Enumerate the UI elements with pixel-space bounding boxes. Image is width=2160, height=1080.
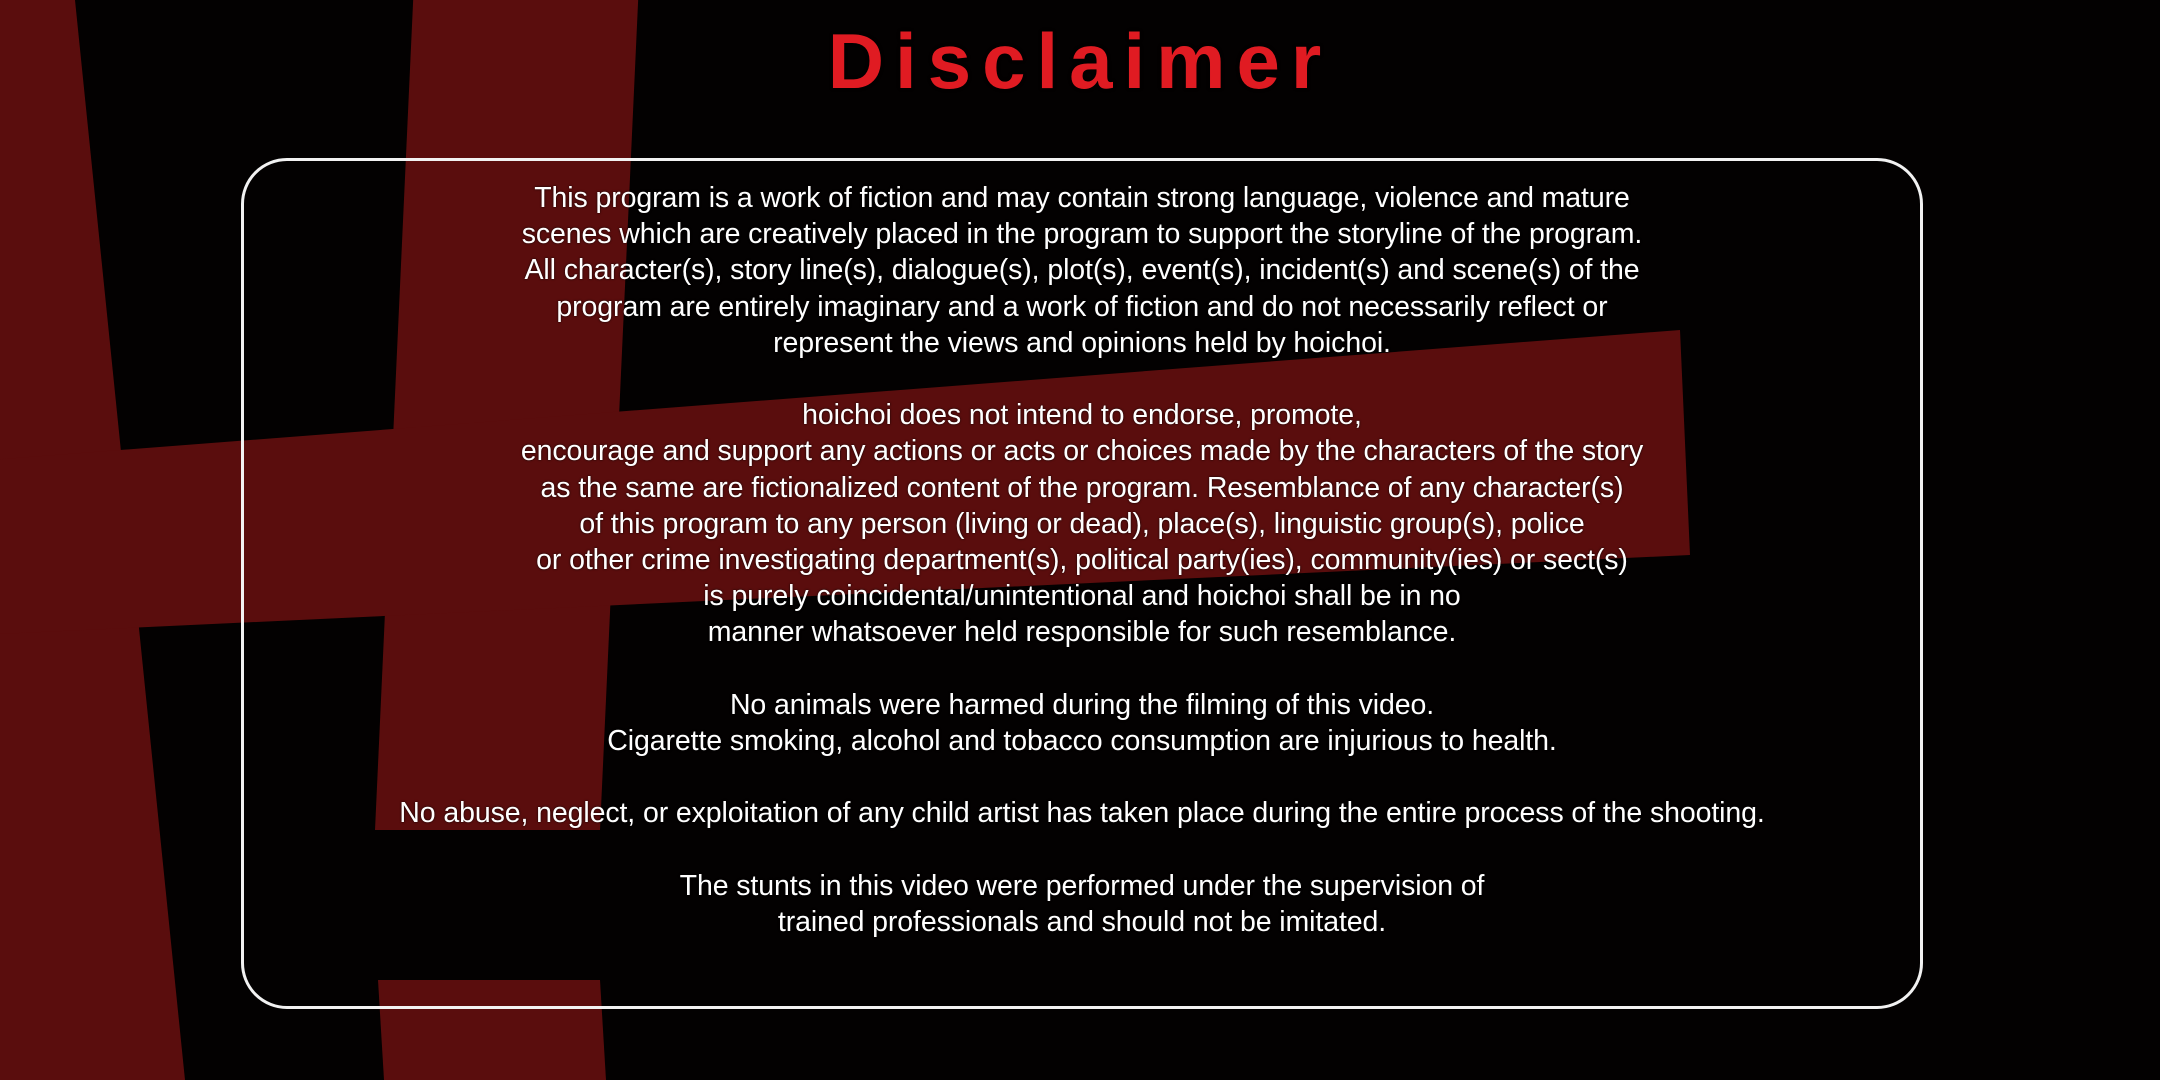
disclaimer-paragraph-child-artist-notice: No abuse, neglect, or exploitation of an… (241, 795, 1923, 831)
disclaimer-line: program are entirely imaginary and a wor… (241, 289, 1923, 325)
disclaimer-line: trained professionals and should not be … (241, 904, 1923, 940)
paragraph-spacer (241, 651, 1923, 687)
disclaimer-line: represent the views and opinions held by… (241, 325, 1923, 361)
paragraph-spacer (241, 759, 1923, 795)
page-title: Disclaimer (0, 22, 2160, 100)
disclaimer-paragraph-stunts-notice: The stunts in this video were performed … (241, 868, 1923, 940)
disclaimer-paragraph-no-endorsement-notice: hoichoi does not intend to endorse, prom… (241, 397, 1923, 650)
disclaimer-line: of this program to any person (living or… (241, 506, 1923, 542)
disclaimer-line: Cigarette smoking, alcohol and tobacco c… (241, 723, 1923, 759)
disclaimer-text-body: This program is a work of fiction and ma… (241, 180, 1923, 1000)
disclaimer-line: No animals were harmed during the filmin… (241, 687, 1923, 723)
disclaimer-line: is purely coincidental/unintentional and… (241, 578, 1923, 614)
disclaimer-line: hoichoi does not intend to endorse, prom… (241, 397, 1923, 433)
disclaimer-line: encourage and support any actions or act… (241, 433, 1923, 469)
disclaimer-line: or other crime investigating department(… (241, 542, 1923, 578)
disclaimer-line: manner whatsoever held responsible for s… (241, 614, 1923, 650)
disclaimer-screen: Disclaimer This program is a work of fic… (0, 0, 2160, 1080)
disclaimer-line: This program is a work of fiction and ma… (241, 180, 1923, 216)
disclaimer-line: scenes which are creatively placed in th… (241, 216, 1923, 252)
disclaimer-line: No abuse, neglect, or exploitation of an… (241, 795, 1923, 831)
disclaimer-paragraph-animals-and-substances-notice: No animals were harmed during the filmin… (241, 687, 1923, 759)
paragraph-spacer (241, 361, 1923, 397)
disclaimer-paragraph-fiction-notice: This program is a work of fiction and ma… (241, 180, 1923, 361)
paragraph-spacer (241, 832, 1923, 868)
disclaimer-line: All character(s), story line(s), dialogu… (241, 252, 1923, 288)
disclaimer-line: as the same are fictionalized content of… (241, 470, 1923, 506)
disclaimer-line: The stunts in this video were performed … (241, 868, 1923, 904)
